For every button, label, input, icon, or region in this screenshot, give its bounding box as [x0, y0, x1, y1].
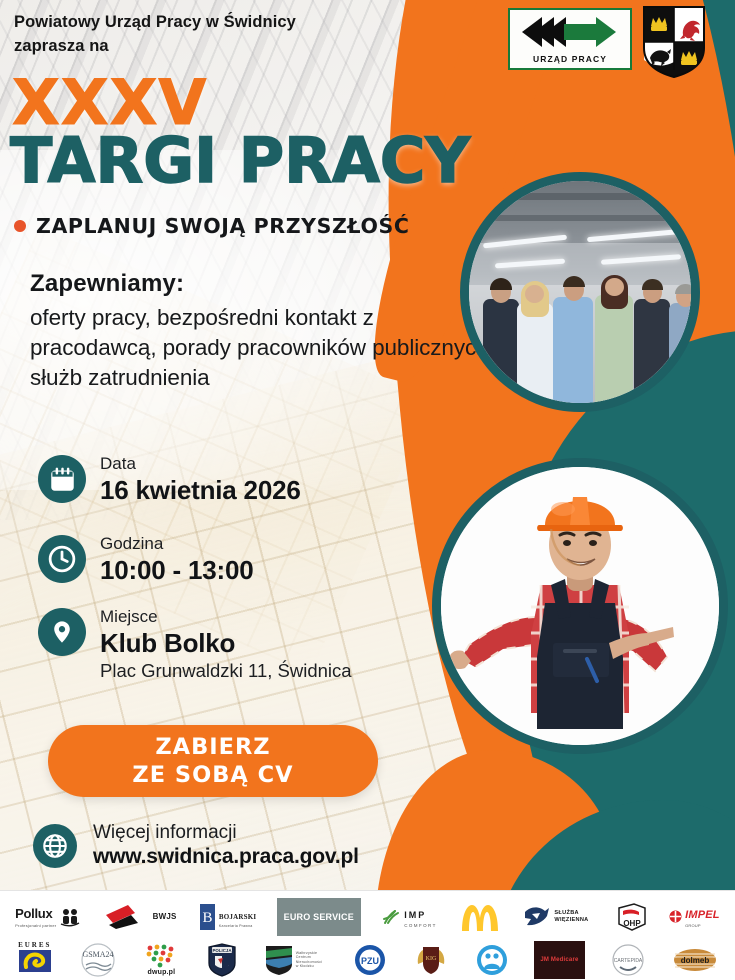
website-row[interactable]: Więcej informacji www.swidnica.praca.gov… — [33, 822, 359, 869]
group-of-professionals-photo — [460, 172, 700, 412]
bwjs-mark-icon — [104, 903, 150, 931]
cartepida-label: CARTEPIDA — [613, 958, 642, 964]
sponsor-name: BOJARSKI — [219, 913, 256, 921]
cta-line-2: ZE SOBĄ CV — [132, 761, 293, 789]
sponsor-logo-dolmeb: dolmeb — [671, 941, 719, 979]
calendar-icon — [38, 455, 86, 503]
ensure-heading: Zapewniamy: — [30, 270, 184, 298]
detail-place: Miejsce Klub Bolko Plac Grunwaldzki 11, … — [38, 608, 352, 682]
sponsor-logo-stowarzyszenie — [474, 941, 510, 979]
organizer-heading: Powiatowy Urząd Pracy w Świdnicy zaprasz… — [14, 10, 414, 58]
policja-label: POLICJA — [212, 948, 232, 953]
dolmeb-label: dolmeb — [681, 956, 710, 965]
worker-illustration — [441, 467, 719, 745]
sponsor-name: dwup.pl — [147, 969, 175, 976]
stowarzyszenie-circle-icon — [476, 944, 508, 976]
detail-value: 10:00 - 13:00 — [100, 556, 254, 585]
sponsor-logo-eures: EURES — [16, 941, 54, 979]
poster-root: Powiatowy Urząd Pracy w Świdnicy zaprasz… — [0, 0, 735, 980]
sluzba-wiezienna-eagle-icon — [523, 904, 551, 930]
ohp-label: OHP — [623, 919, 641, 928]
sponsor-name: Wałbrzyskie Centrum Nieruchomości w Kłod… — [296, 951, 326, 968]
organizer-line-1: Powiatowy Urząd Pracy w Świdnicy — [14, 10, 414, 34]
sponsor-logo-pzu: PZU — [352, 941, 388, 979]
detail-value: 16 kwietnia 2026 — [100, 476, 301, 505]
sponsor-sub: Profesjonalni partner — [15, 923, 56, 928]
page-title: TARGI PRACY — [10, 130, 470, 192]
bojarski-mark-icon: B — [199, 903, 216, 931]
urzad-pracy-logo: URZĄD PRACY — [508, 8, 632, 70]
sponsor-logo-bojarski: B BOJARSKI Kancelaria Prawna — [197, 898, 258, 936]
imp-leaf-icon — [381, 907, 401, 927]
ensure-body: oferty pracy, bezpośredni kontakt z prac… — [30, 303, 490, 393]
powiat-swidnicki-coat-of-arms — [643, 6, 705, 78]
sponsor-logo-mcdonalds — [457, 898, 503, 936]
eures-flag-icon — [18, 949, 52, 973]
more-info-label: Więcej informacji — [93, 822, 359, 844]
sponsor-name: IMP — [404, 910, 426, 920]
impel-dot-icon — [669, 910, 682, 923]
detail-time: Godzina 10:00 - 13:00 — [38, 535, 254, 585]
detail-date: Data 16 kwietnia 2026 — [38, 455, 301, 505]
kig-label: KIG — [426, 956, 437, 962]
gsma24-label: GSMA24 — [83, 950, 114, 959]
policja-badge-icon: POLICJA — [207, 943, 237, 977]
sponsor-sub: Kancelaria Prawna — [219, 924, 256, 928]
sponsor-name: SŁUŻBA WIĘZIENNA — [554, 910, 594, 922]
sponsor-name: EURO SERVICE — [284, 912, 354, 922]
detail-address: Plac Grunwaldzki 11, Świdnica — [100, 659, 352, 682]
construction-worker-photo — [432, 458, 728, 754]
globe-icon — [33, 824, 77, 868]
dwup-dots-icon — [144, 944, 178, 968]
sponsor-name: IMPEL — [685, 909, 720, 921]
sponsor-logo-gsma24: GSMA24 — [78, 941, 118, 979]
pin-icon — [38, 608, 86, 656]
pzu-circle-icon: PZU — [354, 944, 386, 976]
sponsor-name: Pollux — [15, 906, 52, 921]
detail-label: Miejsce — [100, 608, 352, 627]
sponsor-logo-bwjs: BWJS — [102, 898, 179, 936]
ohp-shield-icon: OHP — [617, 902, 647, 932]
sponsor-name: EURES — [18, 941, 52, 949]
cta-line-1: ZABIERZ — [155, 733, 270, 761]
detail-label: Data — [100, 455, 301, 474]
bring-cv-button[interactable]: ZABIERZ ZE SOBĄ CV — [48, 725, 378, 797]
dolmeb-wood-icon: dolmeb — [673, 948, 717, 972]
sponsor-logo-jm-medicare: JM Medicare — [534, 941, 584, 979]
clock-icon — [38, 535, 86, 583]
sponsor-sub: GROUP — [685, 923, 720, 928]
sponsor-logo-cartepida: CARTEPIDA — [609, 941, 647, 979]
detail-label: Godzina — [100, 535, 254, 554]
sponsor-logo-wck: Wałbrzyskie Centrum Nieruchomości w Kłod… — [263, 941, 328, 979]
people-icon — [59, 907, 81, 927]
sponsor-name: JM Medicare — [540, 957, 578, 963]
cartepida-emblem-icon: CARTEPIDA — [611, 944, 645, 976]
urzad-pracy-logo-text: URZĄD PRACY — [510, 54, 630, 64]
svg-text:B: B — [202, 910, 212, 926]
website-url[interactable]: www.swidnica.praca.gov.pl — [93, 844, 359, 869]
sponsor-logo-dwup: dwup.pl — [142, 941, 180, 979]
sponsor-logo-policja: POLICJA — [205, 941, 239, 979]
kig-crest-icon: KIG — [414, 944, 448, 976]
organizer-line-2: zaprasza na — [14, 34, 414, 58]
urzad-pracy-arrows-icon — [512, 13, 628, 57]
sponsor-sub: COMFORT — [404, 923, 436, 928]
gsma24-circle-icon: GSMA24 — [80, 943, 116, 977]
pzu-label: PZU — [361, 956, 379, 966]
tagline-text: ZAPLANUJ SWOJĄ PRZYSZŁOŚĆ — [36, 214, 410, 238]
sponsor-logo-kig: KIG — [412, 941, 450, 979]
tagline-row: ZAPLANUJ SWOJĄ PRZYSZŁOŚĆ — [14, 214, 410, 238]
sponsor-name: BWJS — [153, 912, 177, 921]
sponsor-logo-imp-comfort: IMP COMFORT — [379, 898, 438, 936]
sponsor-logo-euroservice: EURO SERVICE — [277, 898, 361, 936]
sponsor-logo-bar: Pollux Profesjonalni partner BWJS — [0, 890, 735, 980]
sponsor-row-1: Pollux Profesjonalni partner BWJS — [4, 895, 731, 938]
sponsor-logo-impel: IMPEL GROUP — [667, 898, 722, 936]
bullet-dot-icon — [14, 220, 26, 232]
sponsor-row-2: EURES GSMA24 — [4, 938, 731, 980]
mcdonalds-arches-icon — [459, 902, 501, 932]
sponsor-logo-ohp: OHP — [615, 898, 649, 936]
detail-value: Klub Bolko — [100, 629, 352, 658]
sponsor-logo-pollux: Pollux Profesjonalni partner — [13, 898, 83, 936]
sponsor-logo-sluzba-wiezienna: SŁUŻBA WIĘZIENNA — [521, 898, 596, 936]
wck-shield-icon — [265, 944, 293, 976]
